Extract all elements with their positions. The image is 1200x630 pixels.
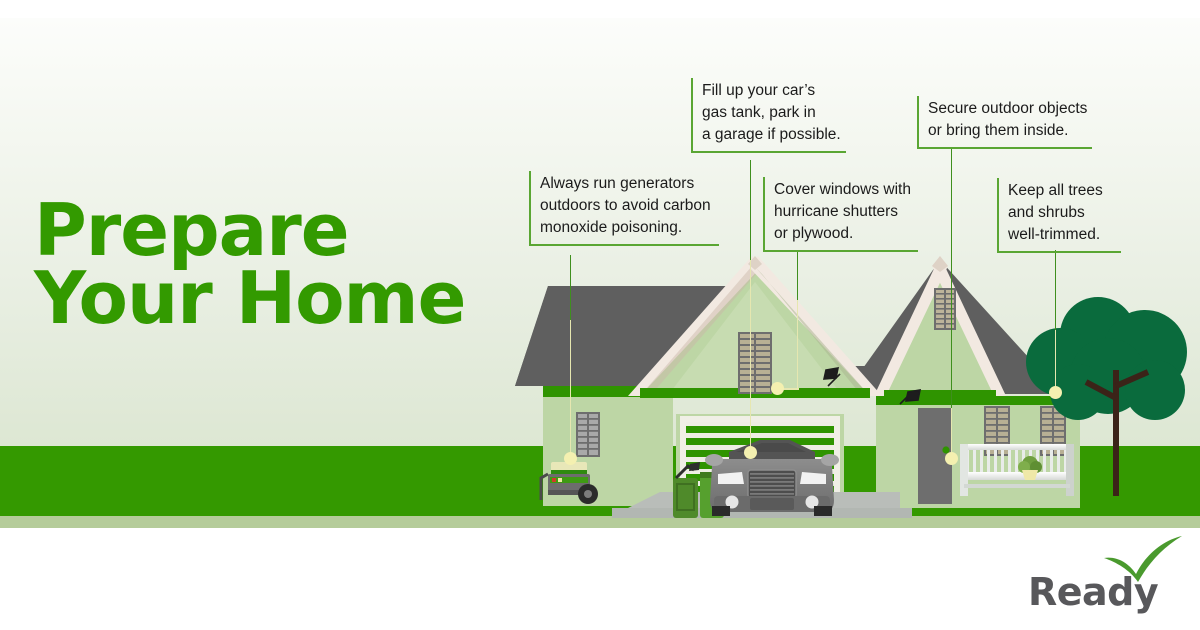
leader-dot-windows: [771, 382, 784, 395]
callout-cover-windows: Cover windows with hurricane shutters or…: [763, 177, 918, 252]
ready-wordmark: Ready: [1028, 570, 1158, 614]
callout-generators: Always run generators outdoors to avoid …: [529, 171, 719, 246]
leader-line-trees: [1055, 250, 1056, 330]
infographic-poster: Prepare Your Home Always run generators …: [0, 0, 1200, 630]
window-shutters-left-wing: [576, 412, 600, 457]
leader-line-car: [750, 160, 751, 260]
ready-logo: Ready: [1028, 540, 1178, 612]
callout-secure-outdoor-objects: Secure outdoor objects or bring them ins…: [917, 96, 1092, 149]
leader-line-secure-objects: [951, 148, 952, 408]
window-shutters-gable-right: [934, 288, 956, 330]
window-shutters-gable-center: [738, 332, 772, 394]
leader-line-windows: [797, 250, 798, 300]
callout-car-gas-tank: Fill up your car’s gas tank, park in a g…: [691, 78, 846, 153]
leader-line-generators: [570, 255, 571, 320]
leader-dot-secure-objects: [945, 452, 958, 465]
page-title: Prepare Your Home: [34, 196, 504, 333]
leader-dot-car: [744, 446, 757, 459]
leader-dot-trees: [1049, 386, 1062, 399]
leader-dot-generators: [564, 452, 577, 465]
right-lower-wall: [876, 396, 1080, 508]
callout-trees-shrubs: Keep all trees and shrubs well-trimmed.: [997, 178, 1121, 253]
